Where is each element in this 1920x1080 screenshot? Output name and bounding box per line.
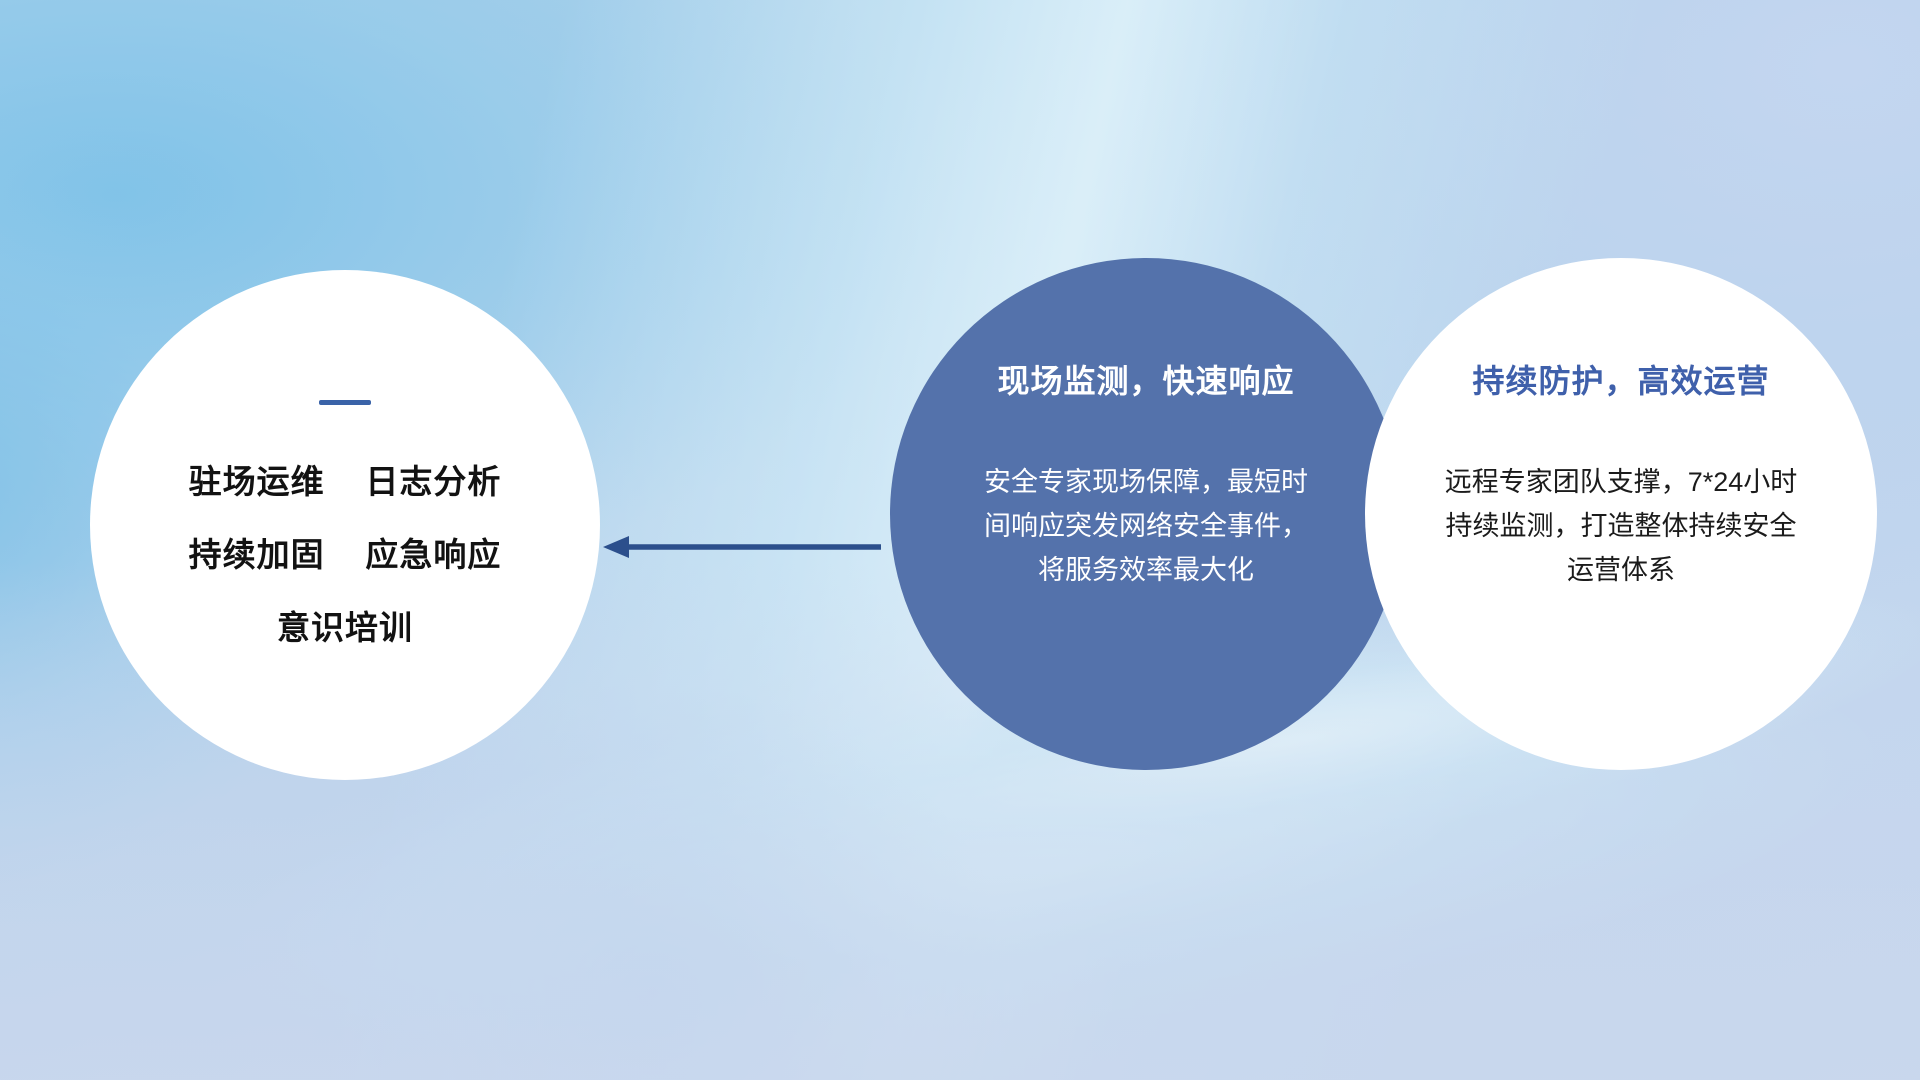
onsite-monitoring-body: 安全专家现场保障，最短时间响应突发网络安全事件，将服务效率最大化 [981, 461, 1311, 592]
capability-line-3: 意识培训 [277, 611, 413, 644]
capability-line-1: 驻场运维 日志分析 [189, 465, 502, 498]
capability-circle-content: 驻场运维 日志分析 持续加固 应急响应 意识培训 [90, 270, 600, 780]
continuous-operations-circle-content: 持续防护，高效运营 远程专家团队支撑，7*24小时持续监测，打造整体持续安全运营… [1365, 258, 1877, 770]
continuous-operations-title: 持续防护，高效运营 [1472, 364, 1769, 399]
horizontal-dash-divider-icon [319, 400, 371, 405]
onsite-monitoring-circle-content: 现场监测，快速响应 安全专家现场保障，最短时间响应突发网络安全事件，将服务效率最… [890, 258, 1402, 770]
continuous-operations-body: 远程专家团队支撑，7*24小时持续监测，打造整体持续安全运营体系 [1437, 461, 1805, 592]
slide-canvas: 驻场运维 日志分析 持续加固 应急响应 意识培训 现场监测，快速响应 安全专家现… [0, 0, 1920, 1080]
capability-line-2: 持续加固 应急响应 [189, 538, 502, 571]
onsite-monitoring-title: 现场监测，快速响应 [997, 364, 1294, 399]
arrow-left-icon [595, 516, 885, 578]
